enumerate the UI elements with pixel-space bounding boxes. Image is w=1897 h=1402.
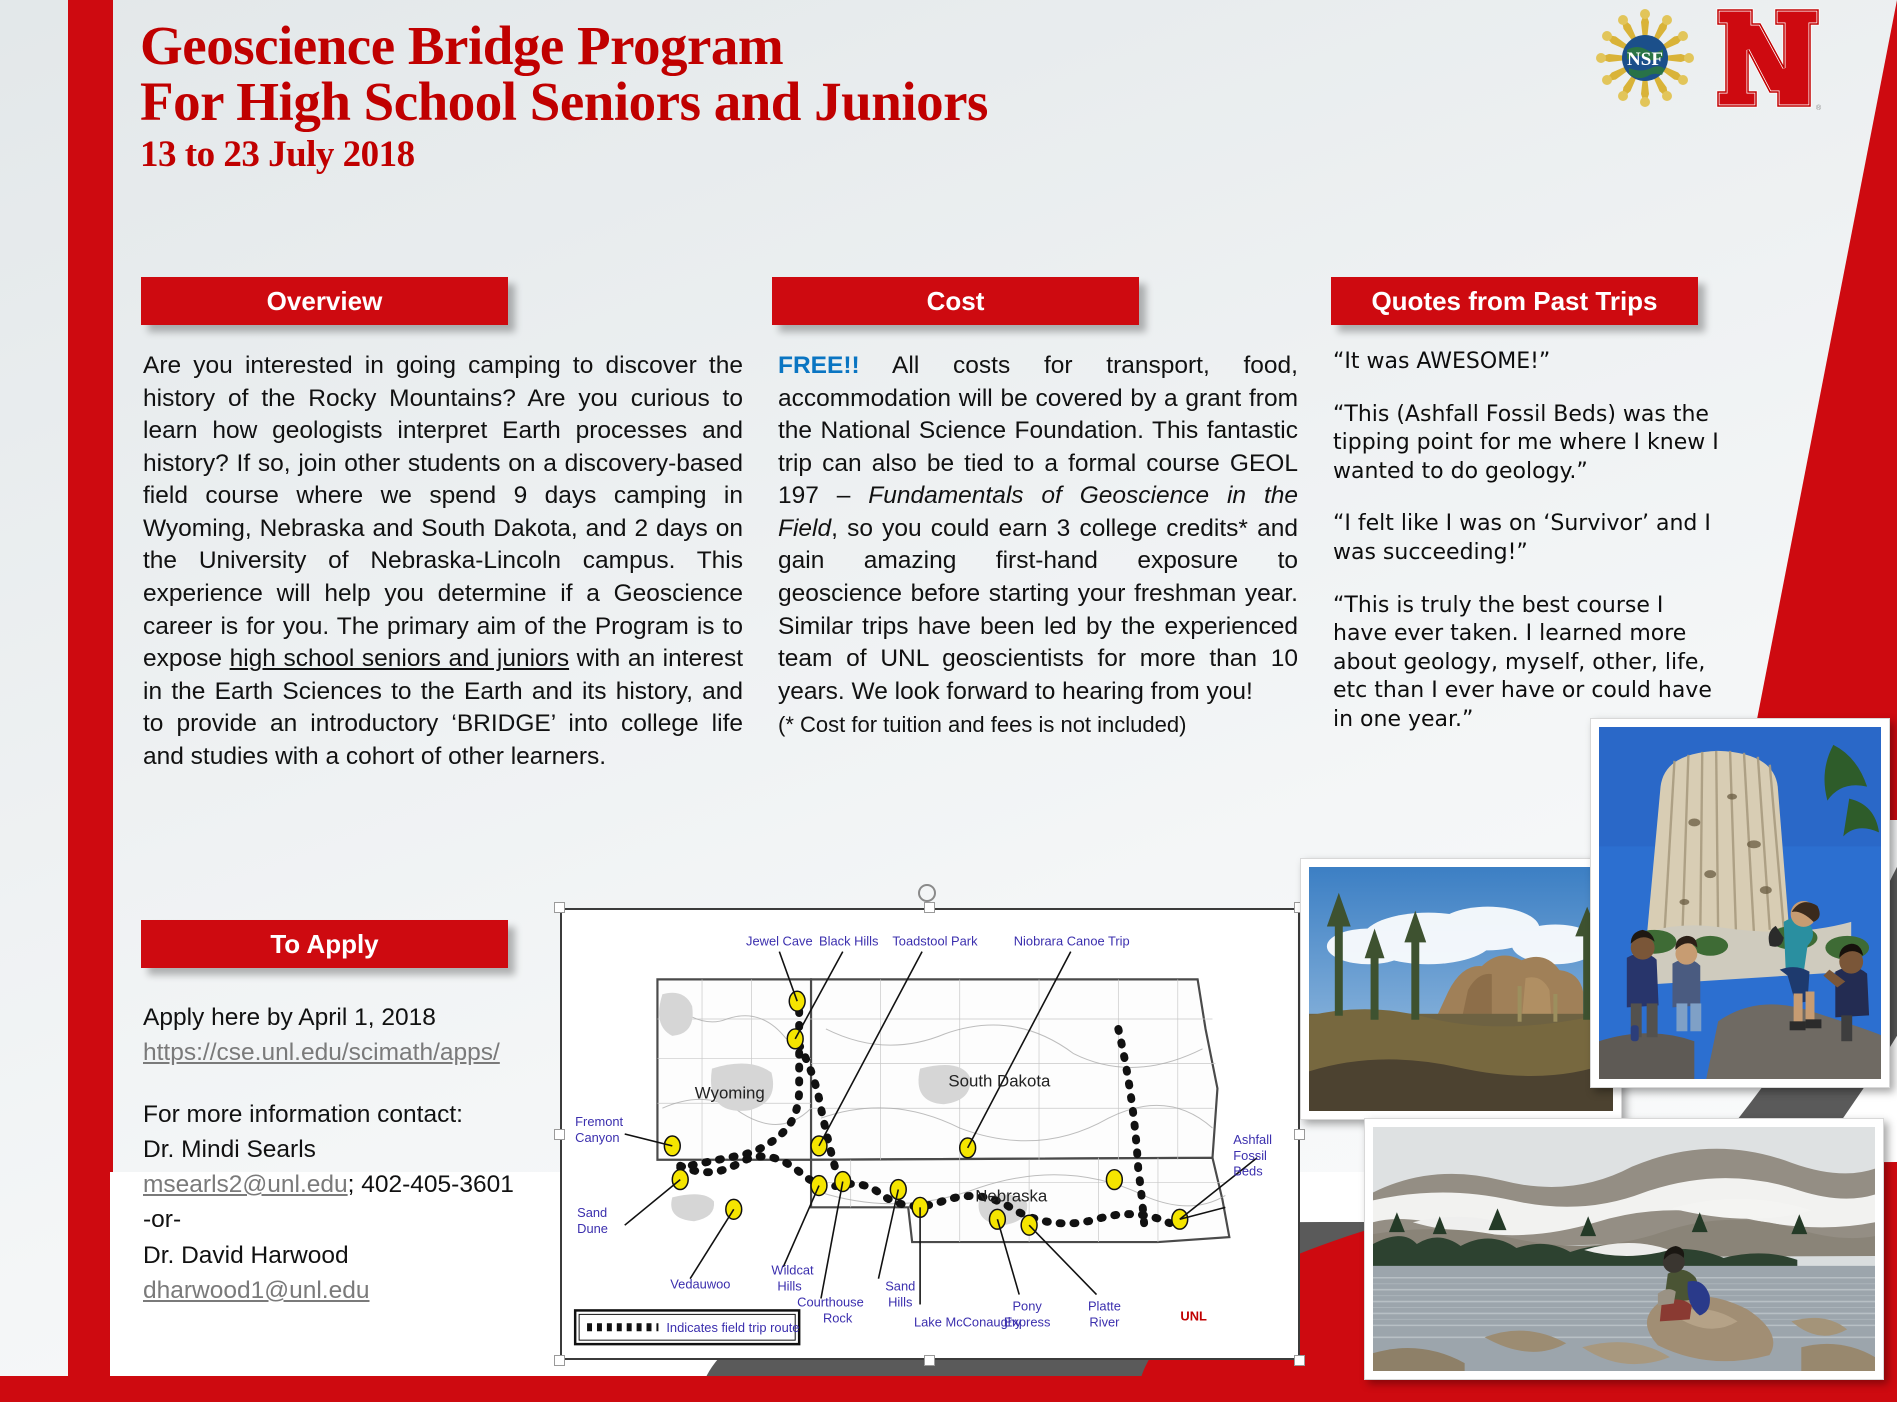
- nsf-logo-text: NSF: [1627, 49, 1663, 70]
- spacer: [143, 1071, 563, 1097]
- poster-header: Geoscience Bridge Program For High Schoo…: [140, 18, 1240, 174]
- map-state-wyoming: Wyoming: [695, 1083, 765, 1102]
- cost-text-part2: , so you could earn 3 college credits* a…: [778, 515, 1298, 705]
- map-legend: Indicates field trip route: [575, 1310, 799, 1344]
- map-legend-text: Indicates field trip route: [666, 1320, 799, 1335]
- map-label-platte: Platte: [1088, 1298, 1121, 1313]
- contact1-email-link[interactable]: msearls2@unl.edu: [143, 1171, 348, 1198]
- mountain-lake-photo: [1364, 1118, 1884, 1380]
- devils-tower-photo: [1590, 718, 1890, 1088]
- map-label-courthouse: Courthouse: [797, 1294, 864, 1309]
- map-label-dune: Dune: [577, 1221, 608, 1236]
- overview-text-part1: Are you interested in going camping to d…: [143, 352, 743, 672]
- page-title-line1: Geoscience Bridge Program: [140, 18, 1240, 74]
- field-trip-map[interactable]: Jewel Cave Black Hills Toadstool Park Ni…: [560, 908, 1300, 1360]
- map-label-fossil: Fossil: [1233, 1148, 1267, 1163]
- contact1-phone: ; 402-405-3601: [348, 1171, 514, 1198]
- map-label-pony: Pony: [1012, 1298, 1042, 1313]
- section-banner-overview: Overview: [141, 277, 508, 325]
- map-label-canyon: Canyon: [575, 1130, 619, 1145]
- map-resize-handle[interactable]: [1294, 1355, 1305, 1366]
- map-label-express: Express: [1004, 1314, 1051, 1329]
- or-separator: -or-: [143, 1202, 563, 1237]
- quote-item: “It was AWESOME!”: [1333, 348, 1723, 377]
- map-label-wildcat: Wildcat: [771, 1263, 814, 1278]
- map-resize-handle[interactable]: [1294, 1129, 1305, 1140]
- map-label-ashfall: Ashfall: [1233, 1132, 1272, 1147]
- map-resize-handle[interactable]: [924, 902, 935, 913]
- apply-body: Apply here by April 1, 2018 https://cse.…: [143, 1000, 563, 1308]
- nsf-logo-icon: NSF: [1595, 8, 1695, 108]
- map-resize-handle[interactable]: [554, 1355, 565, 1366]
- map-label-unl: UNL: [1180, 1308, 1207, 1323]
- map-label-river: River: [1089, 1314, 1120, 1329]
- quote-item: “This (Ashfall Fossil Beds) was the tipp…: [1333, 401, 1723, 487]
- section-banner-apply: To Apply: [141, 920, 508, 968]
- map-rotate-handle[interactable]: [918, 884, 936, 902]
- map-resize-handle[interactable]: [924, 1355, 935, 1366]
- camping-photo: [1300, 858, 1622, 1120]
- map-label-jewel-cave: Jewel Cave: [746, 934, 813, 949]
- map-label-sand: Sand: [577, 1205, 607, 1220]
- left-red-bar: [68, 0, 113, 1402]
- map-label-black-hills: Black Hills: [819, 934, 878, 949]
- map-state-south-dakota: South Dakota: [948, 1071, 1051, 1090]
- page-title-line2: For High School Seniors and Juniors: [140, 74, 1240, 130]
- map-resize-handle[interactable]: [554, 1129, 565, 1140]
- quote-item: “This is truly the best course I have ev…: [1333, 592, 1723, 735]
- map-label-niobrara: Niobrara Canoe Trip: [1014, 934, 1130, 949]
- map-label-beds: Beds: [1233, 1164, 1262, 1179]
- map-resize-handle[interactable]: [554, 902, 565, 913]
- map-label-hills: Hills: [777, 1279, 801, 1294]
- apply-url-link[interactable]: https://cse.unl.edu/scimath/apps/: [143, 1039, 500, 1066]
- map-label-vedauwoo: Vedauwoo: [670, 1277, 730, 1292]
- map-label-fremont: Fremont: [575, 1114, 623, 1129]
- map-graphic: Jewel Cave Black Hills Toadstool Park Ni…: [562, 910, 1298, 1358]
- section-banner-cost: Cost: [772, 277, 1139, 325]
- map-label-rock: Rock: [823, 1310, 853, 1325]
- contact2-email-link[interactable]: dharwood1@unl.edu: [143, 1277, 369, 1304]
- map-label-toadstool-park: Toadstool Park: [892, 934, 978, 949]
- map-label-hills2: Hills: [888, 1294, 912, 1309]
- poster-canvas: Geoscience Bridge Program For High Schoo…: [0, 0, 1897, 1402]
- free-label: FREE!!: [778, 352, 860, 379]
- cost-body: FREE!! All costs for transport, food, ac…: [778, 350, 1298, 740]
- apply-deadline: Apply here by April 1, 2018: [143, 1000, 563, 1035]
- contact1-name: Dr. Mindi Searls: [143, 1132, 563, 1167]
- contact2-name: Dr. David Harwood: [143, 1238, 563, 1273]
- overview-body: Are you interested in going camping to d…: [143, 350, 743, 774]
- section-banner-quotes: Quotes from Past Trips: [1331, 277, 1698, 325]
- svg-text:®: ®: [1816, 104, 1822, 112]
- quotes-body: “It was AWESOME!” “This (Ashfall Fossil …: [1333, 348, 1723, 759]
- contact-heading: For more information contact:: [143, 1097, 563, 1132]
- program-dates: 13 to 23 July 2018: [140, 136, 1240, 174]
- nebraska-n-logo-icon: ®: [1712, 4, 1824, 112]
- map-label-sand2: Sand: [885, 1279, 915, 1294]
- overview-underlined-phrase: high school seniors and juniors: [230, 645, 570, 672]
- quote-item: “I felt like I was on ‘Survivor’ and I w…: [1333, 510, 1723, 567]
- cost-footnote: (* Cost for tuition and fees is not incl…: [778, 710, 1298, 739]
- map-state-nebraska: Nebraska: [975, 1186, 1048, 1205]
